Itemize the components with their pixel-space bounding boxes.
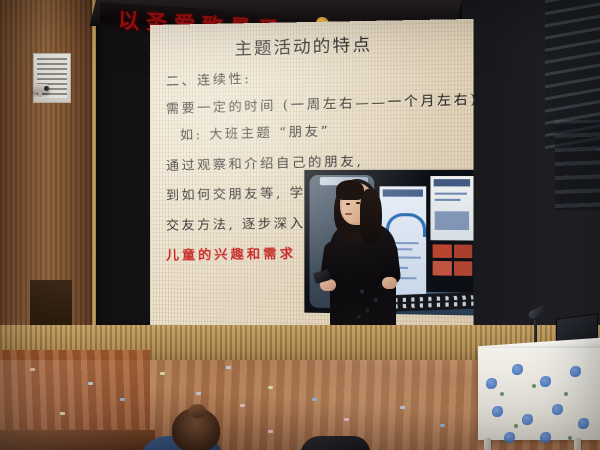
audience-member-right	[300, 436, 370, 450]
presenter-table	[478, 338, 600, 450]
presenter-hair-front	[336, 180, 364, 200]
confetti-piece	[60, 412, 65, 415]
presentation-hall-photo: 以圣爱致最爱 主题活动的特点 二、连续性: 需要一定的时间 (一周左右——一个月…	[0, 0, 600, 450]
tablecloth-flower	[552, 404, 563, 415]
security-camera-icon	[33, 84, 49, 93]
confetti-piece	[268, 430, 273, 433]
tablecloth-flower	[570, 366, 581, 377]
tablecloth-leaf	[532, 384, 536, 388]
confetti-piece	[196, 392, 201, 395]
tablecloth-flower	[540, 432, 551, 443]
confetti-piece	[312, 398, 317, 401]
tablecloth-flower	[512, 364, 523, 375]
tablecloth-flower	[578, 418, 589, 429]
confetti-piece	[440, 424, 445, 427]
tablecloth-leaf	[568, 436, 572, 440]
confetti-piece	[400, 406, 405, 409]
confetti-piece	[344, 418, 349, 421]
blue-floral-tablecloth	[478, 348, 600, 440]
tablecloth-leaf	[564, 392, 568, 396]
tablecloth-leaf	[500, 392, 504, 396]
lace-pattern	[352, 281, 386, 323]
table-leg	[484, 438, 491, 450]
tablecloth-flower	[492, 406, 503, 417]
projected-slide: 主题活动的特点 二、连续性: 需要一定的时间 (一周左右——一个月左右) 如: …	[150, 19, 473, 331]
confetti-piece	[268, 386, 273, 389]
table-leg	[574, 438, 581, 450]
tablecloth-flower	[540, 376, 551, 387]
presenter	[326, 183, 402, 333]
presenter-right-hand	[382, 277, 397, 289]
confetti-piece	[30, 368, 35, 371]
tablecloth-leaf	[514, 424, 518, 428]
audience-hair-bun	[188, 404, 206, 418]
eye	[346, 203, 350, 205]
tablecloth-flower	[486, 378, 497, 389]
confetti-piece	[88, 382, 93, 385]
confetti-piece	[160, 372, 165, 375]
confetti-piece	[226, 366, 231, 369]
projector-glow	[150, 19, 473, 331]
confetti-piece	[120, 398, 125, 401]
tablecloth-flower	[504, 432, 515, 443]
presenter-hair-side	[360, 189, 382, 245]
audience-member-foreground	[152, 408, 238, 450]
drape-folds-lower	[555, 120, 600, 210]
confetti-piece	[240, 404, 245, 407]
tablecloth-flower	[522, 414, 533, 425]
mouth	[345, 213, 352, 215]
